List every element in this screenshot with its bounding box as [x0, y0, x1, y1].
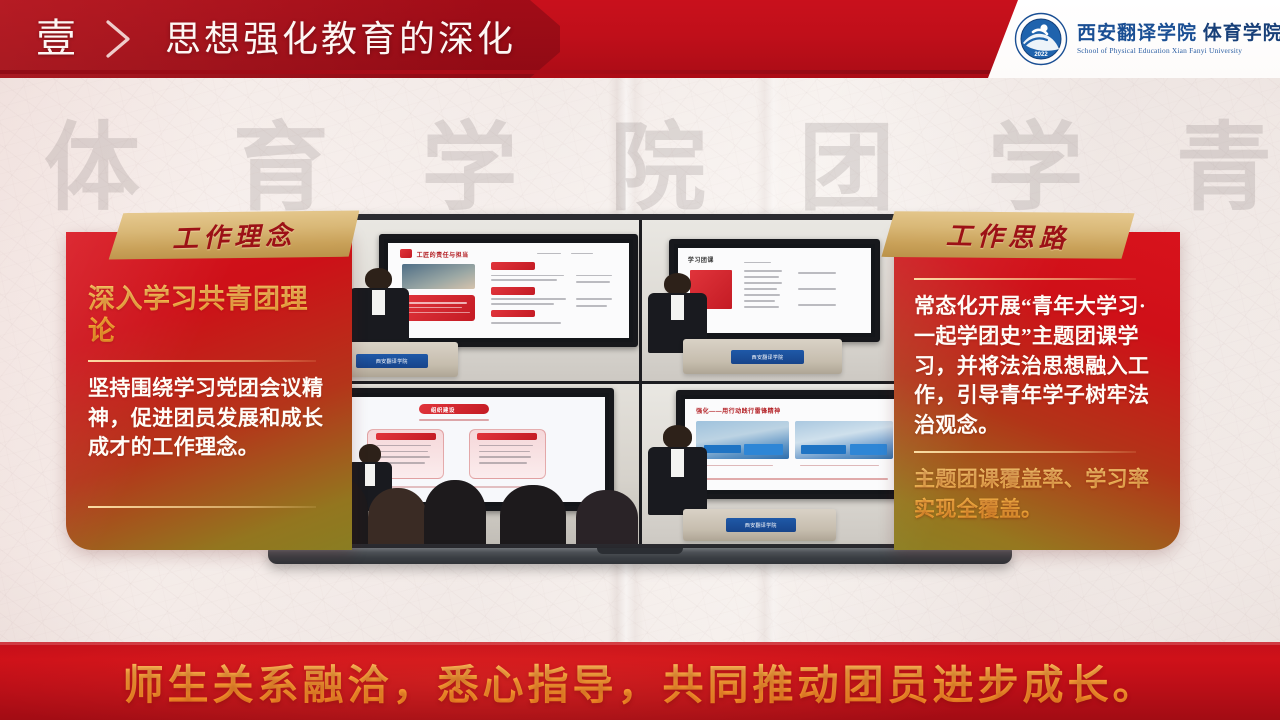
university-logo: 2022 西安翻译学院 体育学院 School of Physical Educ…	[988, 0, 1280, 78]
slide-text-line	[744, 300, 775, 302]
watermark-char: 学	[421, 104, 519, 214]
presenter-head	[365, 268, 392, 290]
presenter-shirt	[671, 449, 684, 478]
slide-text-line	[744, 276, 779, 278]
emblem-year: 2022	[1034, 52, 1048, 58]
slide-text-line	[479, 456, 532, 458]
divider	[88, 360, 316, 362]
slide-logo-chip	[400, 249, 412, 258]
audience-head	[500, 485, 566, 544]
slide-header: 壹 思想强化教育的深化 2022 西安翻译学院	[0, 0, 1280, 78]
watermark-char: 院	[610, 104, 708, 214]
slide-chip	[491, 287, 534, 295]
slide-text-line	[800, 465, 879, 467]
presenter-shirt	[365, 464, 376, 486]
podium-plaque: 西安翻译学院	[726, 518, 796, 531]
watermark-char: 体	[44, 104, 142, 214]
slide-text-line	[571, 253, 593, 255]
work-approach-highlight: 主题团课覆盖率、学习率实现全覆盖。	[914, 465, 1162, 525]
slide-text-line	[479, 462, 527, 464]
caption-top-line	[0, 642, 1280, 645]
chevron-right-icon	[104, 20, 132, 58]
slide-text-line	[744, 288, 777, 290]
slide-text-line	[798, 304, 837, 306]
slide-text-line	[479, 445, 533, 447]
watermark-char: 青	[1176, 104, 1274, 214]
banner-blue	[744, 444, 783, 455]
divider-top	[914, 278, 1136, 280]
display-board: 工匠的责任与担当	[379, 234, 638, 347]
slide-text-line	[537, 253, 561, 255]
banner-blue	[801, 445, 846, 454]
watermark-text: 体 育 学 院 团 学 青	[44, 104, 1274, 214]
slide-text-line	[576, 305, 607, 307]
slide-text-line	[744, 306, 779, 308]
banner-blue	[850, 444, 887, 456]
slide-text-line	[491, 279, 556, 281]
slide-text-line	[698, 465, 773, 467]
slide-text-line	[409, 312, 469, 314]
slide-chip	[477, 433, 537, 440]
slide-text-line	[744, 262, 771, 264]
university-emblem-icon: 2022	[1014, 12, 1068, 66]
section-index: 壹	[36, 13, 78, 65]
slide-underline	[698, 478, 888, 480]
slide-photo	[696, 421, 789, 459]
university-name-cn: 西安翻译学院 体育学院	[1077, 24, 1280, 43]
laptop-notch	[597, 548, 683, 554]
slide-text-line	[744, 270, 783, 272]
presenter-shirt	[671, 295, 684, 321]
slide-text-line	[479, 451, 530, 453]
board-slide-title: 组织建设	[431, 406, 455, 414]
audience-head	[368, 488, 427, 544]
slide-subtitle	[419, 419, 489, 421]
slide-chip	[491, 310, 534, 318]
work-philosophy-heading: 深入学习共青团理论	[88, 284, 332, 348]
board-slide: 强化——用行动践行雷锋精神	[685, 399, 906, 491]
board-slide-title: 强化——用行动践行雷锋精神	[696, 406, 781, 415]
slide-text-line	[491, 303, 554, 305]
slide-photo	[795, 421, 892, 459]
slide-text-line	[576, 281, 610, 283]
podium-plaque-text: 西安翻译学院	[752, 354, 784, 361]
university-name-dept: 体育学院	[1203, 23, 1280, 44]
divider-bottom	[88, 506, 316, 508]
banner-blue	[704, 445, 741, 453]
work-approach-text: 常态化开展“青年大学习·一起学团史”主题团课学习，并将法治思想融入工作，引导青年…	[914, 292, 1162, 441]
podium: 西安翻译学院	[683, 339, 842, 374]
university-name-en: School of Physical Education Xian Fanyi …	[1077, 47, 1280, 54]
slide-text-line	[491, 275, 563, 277]
board-slide-title: 学习团课	[688, 255, 714, 264]
audience-head	[576, 490, 638, 544]
board-slide-title: 工匠的责任与担当	[417, 250, 469, 259]
caption-text: 师生关系融洽，悉心指导，共同推动团员进步成长。	[123, 651, 1158, 711]
podium: 西安翻译学院	[683, 509, 835, 541]
watermark-char: 育	[233, 104, 331, 214]
divider	[914, 451, 1136, 453]
display-board: 强化——用行动践行雷锋精神	[676, 390, 915, 500]
audience-head	[424, 480, 486, 544]
slide-card	[469, 429, 546, 479]
presenter-figure	[648, 425, 707, 515]
slide-text-line	[576, 298, 612, 300]
podium-plaque-text: 西安翻译学院	[376, 358, 408, 365]
photo-collage: 工匠的责任与担当	[292, 220, 988, 544]
work-philosophy-text: 坚持围绕学习党团会议精神，促进团员发展和成长成才的工作理念。	[88, 374, 332, 463]
presenter-head	[359, 444, 381, 463]
slide-text-line	[798, 288, 837, 290]
slide-text-line	[491, 298, 566, 300]
slide-chip	[376, 433, 436, 440]
podium-plaque-text: 西安翻译学院	[745, 522, 777, 529]
presenter-head	[663, 425, 692, 448]
work-approach-card: 工作思路 常态化开展“青年大学习·一起学团史”主题团课学习，并将法治思想融入工作…	[894, 232, 1180, 550]
slide-chip	[491, 262, 534, 270]
university-logo-text: 西安翻译学院 体育学院 School of Physical Education…	[1077, 24, 1280, 54]
bottom-caption-bar: 师生关系融洽，悉心指导，共同推动团员进步成长。	[0, 642, 1280, 720]
laptop-screen: 工匠的责任与担当	[286, 214, 994, 550]
slide-root: 体 育 学 院 团 学 青 工匠的责任与担当	[0, 0, 1280, 720]
slide-text-line	[491, 322, 561, 324]
slide-text-line	[744, 294, 781, 296]
work-approach-body: 常态化开展“青年大学习·一起学团史”主题团课学习，并将法治思想融入工作，引导青年…	[894, 232, 1180, 550]
podium-plaque: 西安翻译学院	[356, 354, 428, 368]
presenter-shirt	[372, 290, 384, 315]
board-slide: 工匠的责任与担当	[388, 243, 629, 338]
watermark-char: 团	[799, 104, 897, 214]
university-name-main: 西安翻译学院	[1077, 23, 1197, 44]
work-philosophy-body: 深入学习共青团理论 坚持围绕学习党团会议精神，促进团员发展和成长成才的工作理念。	[66, 232, 352, 550]
watermark-char: 学	[987, 104, 1085, 214]
slide-text-line	[576, 275, 612, 277]
slide-photo	[402, 264, 474, 289]
podium-plaque: 西安翻译学院	[731, 350, 804, 364]
work-philosophy-card: 工作理念 深入学习共青团理论 坚持围绕学习党团会议精神，促进团员发展和成长成才的…	[66, 232, 352, 550]
slide-text-line	[409, 302, 467, 304]
presenter-head	[664, 273, 691, 295]
page-title: 思想强化教育的深化	[165, 14, 516, 64]
presenter-figure	[347, 268, 409, 351]
slide-text-line	[744, 282, 783, 284]
slide-text-line	[798, 272, 837, 274]
